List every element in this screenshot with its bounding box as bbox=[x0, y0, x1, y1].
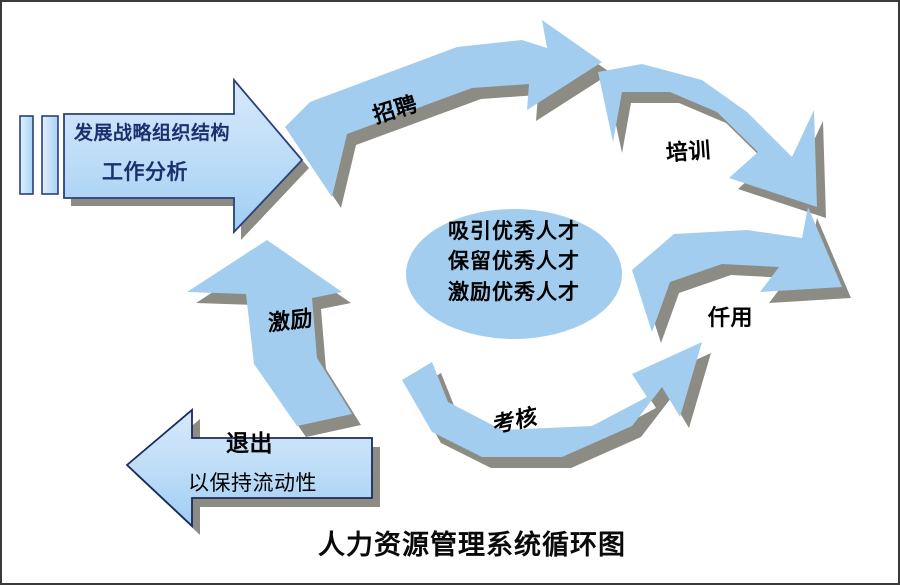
exit-line-2: 以保持流动性 bbox=[188, 470, 317, 496]
center-line-3: 激励优秀人才 bbox=[414, 277, 614, 307]
diagram-title: 人力资源管理系统循环图 bbox=[318, 529, 626, 563]
center-line-1: 吸引优秀人才 bbox=[414, 216, 614, 246]
input-bar-1 bbox=[20, 116, 33, 194]
exit-line-1: 退出 bbox=[226, 430, 273, 459]
input-bar-2 bbox=[42, 116, 58, 194]
center-line-2: 保留优秀人才 bbox=[414, 246, 614, 276]
input-line-1: 发展战略组织结构 bbox=[74, 122, 230, 146]
center-text-block: 吸引优秀人才 保留优秀人才 激励优秀人才 bbox=[414, 216, 614, 307]
diagram-canvas: 发展战略组织结构 工作分析 招聘 培训 仟用 考核 激励 吸引优秀人才 保留优秀… bbox=[0, 0, 900, 585]
stage-label-incentive: 激励 bbox=[268, 305, 313, 338]
stage-label-appointment: 仟用 bbox=[708, 305, 753, 333]
arrow-training bbox=[598, 64, 817, 207]
input-line-2: 工作分析 bbox=[102, 159, 188, 185]
stage-label-training: 培训 bbox=[665, 137, 712, 168]
